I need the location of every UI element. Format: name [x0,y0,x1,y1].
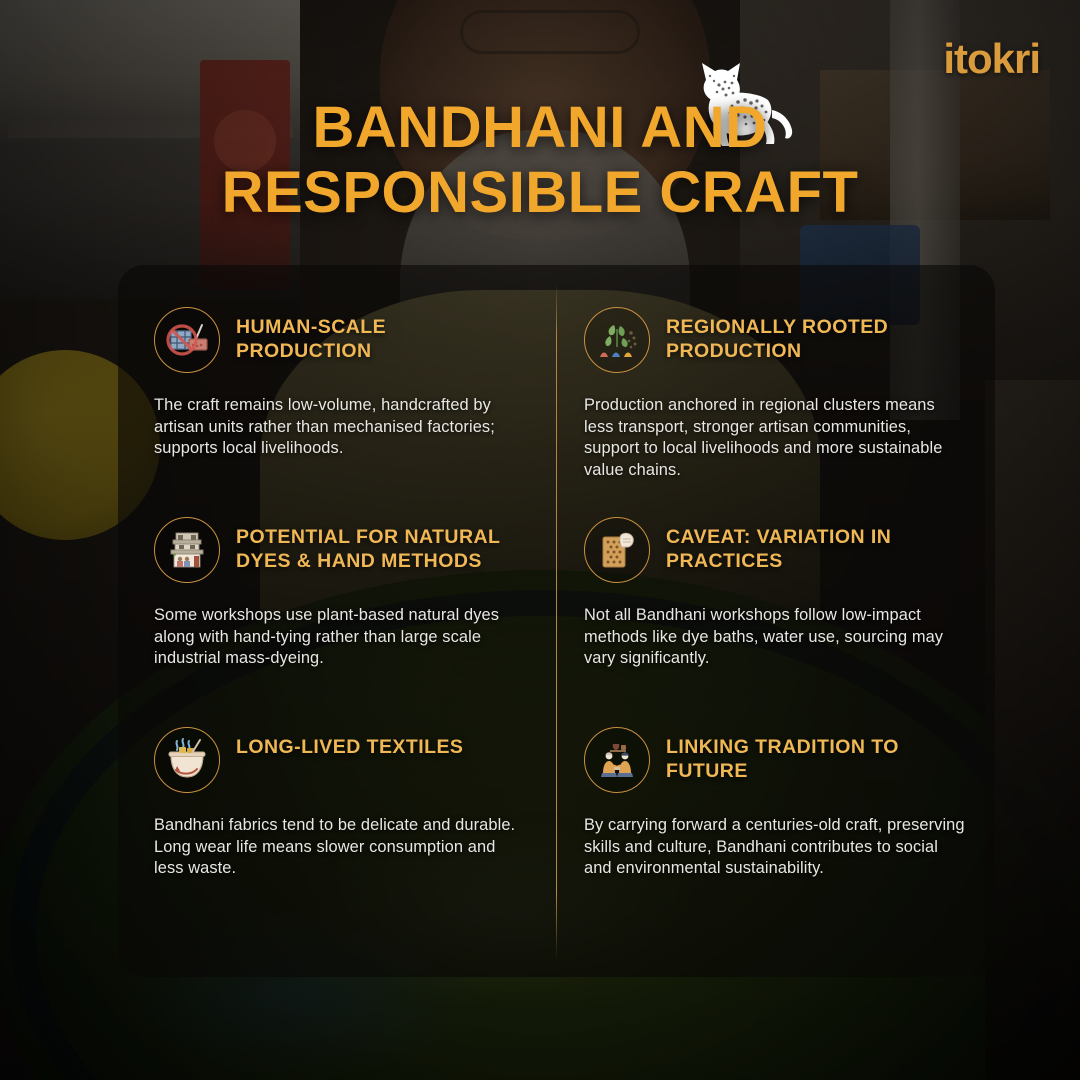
content-panel: HUMAN-SCALE PRODUCTION The craft remains… [118,265,995,977]
card-human-scale-production: HUMAN-SCALE PRODUCTION The craft remains… [118,265,556,475]
card-header: POTENTIAL FOR NATURAL DYES & HAND METHOD… [154,517,522,583]
seedling-dye-powders-icon [590,313,644,367]
card-long-lived-textiles: LONG-LIVED TEXTILES Bandhani fabrics ten… [118,685,556,977]
card-title: LONG-LIVED TEXTILES [236,727,463,760]
card-header: LONG-LIVED TEXTILES [154,727,522,793]
card-caveat-variation-in-practices: CAVEAT: VARIATION IN PRACTICES Not all B… [556,475,995,685]
card-body: Production anchored in regional clusters… [584,395,965,482]
cards-grid: HUMAN-SCALE PRODUCTION The craft remains… [118,265,995,977]
card-header: CAVEAT: VARIATION IN PRACTICES [584,517,965,583]
steaming-dye-pot-icon [160,733,214,787]
card-body: The craft remains low-volume, handcrafte… [154,395,522,460]
icon-ring [154,727,220,793]
card-title: REGIONALLY ROOTED PRODUCTION [666,307,965,364]
card-natural-dyes-hand-methods: POTENTIAL FOR NATURAL DYES & HAND METHOD… [118,475,556,685]
card-body: Bandhani fabrics tend to be delicate and… [154,815,522,880]
icon-ring [154,307,220,373]
card-body: Some workshops use plant-based natural d… [154,605,522,670]
card-header: LINKING TRADITION TO FUTURE [584,727,965,793]
card-title: HUMAN-SCALE PRODUCTION [236,307,522,364]
no-factory-machine-icon [160,313,214,367]
icon-ring [584,517,650,583]
card-header: REGIONALLY ROOTED PRODUCTION [584,307,965,373]
card-linking-tradition-to-future: LINKING TRADITION TO FUTURE By carrying … [556,685,995,977]
infographic-canvas: itokri [0,0,1080,1080]
artisan-workshop-building-icon [160,523,214,577]
icon-ring [154,517,220,583]
card-title: POTENTIAL FOR NATURAL DYES & HAND METHOD… [236,517,522,574]
card-body: Not all Bandhani workshops follow low-im… [584,605,965,670]
title-line-2: RESPONSIBLE CRAFT [120,161,960,226]
card-title: CAVEAT: VARIATION IN PRACTICES [666,517,965,574]
hand-holding-bandhani-fabric-icon [590,523,644,577]
card-body: By carrying forward a centuries-old craf… [584,815,965,880]
brand-logo[interactable]: itokri [943,38,1040,80]
card-header: HUMAN-SCALE PRODUCTION [154,307,522,373]
icon-ring [584,307,650,373]
page-title: BANDHANI AND RESPONSIBLE CRAFT [0,96,1080,226]
title-line-1: BANDHANI AND [120,96,960,161]
card-title: LINKING TRADITION TO FUTURE [666,727,965,784]
card-regionally-rooted-production: REGIONALLY ROOTED PRODUCTION Production … [556,265,995,475]
icon-ring [584,727,650,793]
two-artisans-seated-icon [590,733,644,787]
